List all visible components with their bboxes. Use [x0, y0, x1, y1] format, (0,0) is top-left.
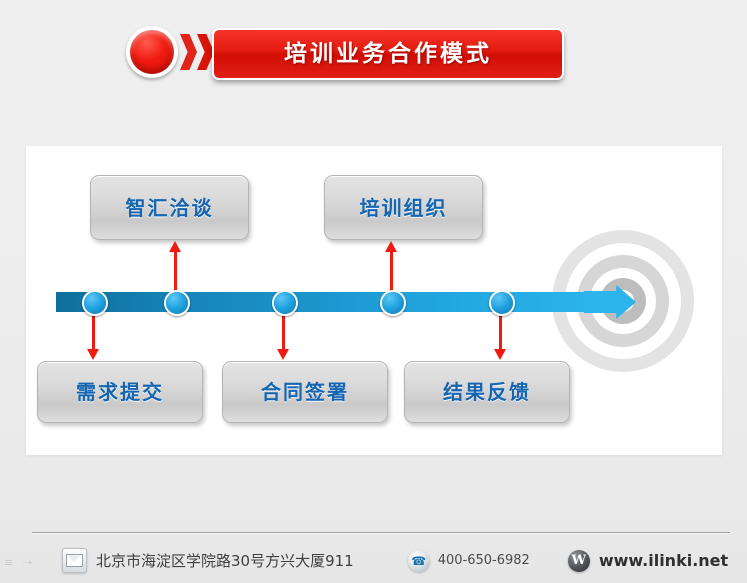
- phone-text: 400-650-6982: [438, 553, 530, 568]
- node-dot: [166, 292, 188, 314]
- step-label: 结果反馈: [443, 382, 531, 402]
- arrow-tip-down: [87, 349, 99, 360]
- phone-icon: ☎: [408, 550, 430, 572]
- envelope-icon: [62, 548, 87, 573]
- step-box-bottom-1[interactable]: 需求提交: [37, 361, 203, 423]
- page-title: 培训业务合作模式: [284, 43, 492, 66]
- process-node-5[interactable]: [489, 290, 515, 316]
- process-arrow: [56, 285, 636, 319]
- footer-phone: ☎ 400-650-6982: [408, 550, 530, 572]
- website-text: www.ilinki.net: [599, 551, 728, 570]
- step-label: 培训组织: [360, 198, 448, 218]
- step-label: 需求提交: [76, 382, 164, 402]
- arrow-head: [584, 285, 636, 319]
- red-circle-icon: [126, 26, 178, 78]
- arrow-tip-down: [277, 349, 289, 360]
- title-banner: 培训业务合作模式: [124, 20, 564, 80]
- process-node-2[interactable]: [164, 290, 190, 316]
- node-dot: [84, 292, 106, 314]
- node-dot: [274, 292, 296, 314]
- step-box-top-2[interactable]: 培训组织: [324, 175, 483, 240]
- address-text: 北京市海淀区学院路30号方兴大厦911: [96, 550, 354, 571]
- step-label: 智汇洽谈: [126, 198, 214, 218]
- footer: 北京市海淀区学院路30号方兴大厦911 ☎ 400-650-6982 W www…: [0, 538, 747, 583]
- title-bar: 培训业务合作模式: [212, 28, 564, 80]
- step-label: 合同签署: [261, 382, 349, 402]
- content-panel: 智汇洽谈 培训组织 需求提交 合同签署 结果反馈: [26, 146, 722, 455]
- chevron-right-icon: [180, 34, 197, 70]
- footer-address: 北京市海淀区学院路30号方兴大厦911: [62, 548, 354, 573]
- arrow-tip-down: [494, 349, 506, 360]
- step-box-top-1[interactable]: 智汇洽谈: [90, 175, 249, 240]
- node-dot: [491, 292, 513, 314]
- arrow-tip-up: [169, 241, 181, 252]
- process-node-1[interactable]: [82, 290, 108, 316]
- node-dot: [382, 292, 404, 314]
- process-node-4[interactable]: [380, 290, 406, 316]
- arrow-tip-up: [385, 241, 397, 252]
- step-box-bottom-3[interactable]: 结果反馈: [404, 361, 570, 423]
- process-node-3[interactable]: [272, 290, 298, 316]
- footer-website[interactable]: W www.ilinki.net: [568, 550, 728, 572]
- wordpress-w-icon: W: [568, 550, 590, 572]
- step-box-bottom-2[interactable]: 合同签署: [222, 361, 388, 423]
- footer-divider: [32, 532, 730, 533]
